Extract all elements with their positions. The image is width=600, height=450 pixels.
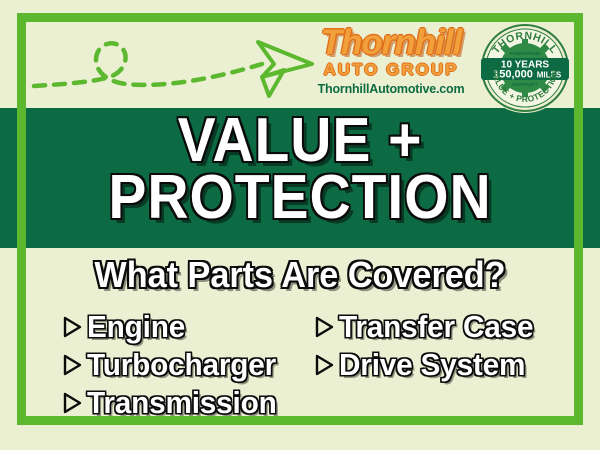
warranty-badge: THORNHILL POWERTRAIN 10 YEARS 150,000 MI… xyxy=(479,22,571,114)
list-item: Turbocharger xyxy=(62,346,302,384)
list-item-label: Drive System xyxy=(339,347,525,383)
triangle-bullet-icon xyxy=(62,354,82,376)
headline: VALUE + PROTECTION xyxy=(0,112,600,226)
badge-warranty-label: WARRANTY xyxy=(512,82,538,87)
subheading: What Parts Are Covered? xyxy=(15,254,585,296)
triangle-bullet-icon xyxy=(314,354,334,376)
advertisement-banner: Thornhill AUTO GROUP ThornhillAutomotive… xyxy=(0,0,600,450)
logo-subtitle: AUTO GROUP xyxy=(312,61,470,78)
covered-parts-list: Engine Turbocharger Transmission Tran xyxy=(62,308,542,422)
list-item-label: Transfer Case xyxy=(339,309,533,345)
covered-parts-left-column: Engine Turbocharger Transmission xyxy=(62,308,302,422)
thornhill-logo: Thornhill AUTO GROUP ThornhillAutomotive… xyxy=(312,25,470,96)
logo-website: ThornhillAutomotive.com xyxy=(312,82,470,96)
logo-wordmark: Thornhill xyxy=(312,25,470,60)
list-item: Engine xyxy=(62,308,302,346)
triangle-bullet-icon xyxy=(314,316,334,338)
list-item: Drive System xyxy=(314,346,544,384)
headline-line-2: PROTECTION xyxy=(24,169,576,226)
list-item: Transmission xyxy=(62,384,302,422)
triangle-bullet-icon xyxy=(62,316,82,338)
list-item-label: Engine xyxy=(87,309,185,345)
headline-line-1: VALUE + xyxy=(24,112,576,169)
triangle-bullet-icon xyxy=(62,392,82,414)
list-item: Transfer Case xyxy=(314,308,544,346)
covered-parts-right-column: Transfer Case Drive System xyxy=(314,308,544,422)
list-item-label: Transmission xyxy=(87,385,277,421)
badge-powertrain-label: POWERTRAIN xyxy=(510,51,541,56)
flight-path-icon xyxy=(26,24,316,106)
list-item-label: Turbocharger xyxy=(87,347,276,383)
